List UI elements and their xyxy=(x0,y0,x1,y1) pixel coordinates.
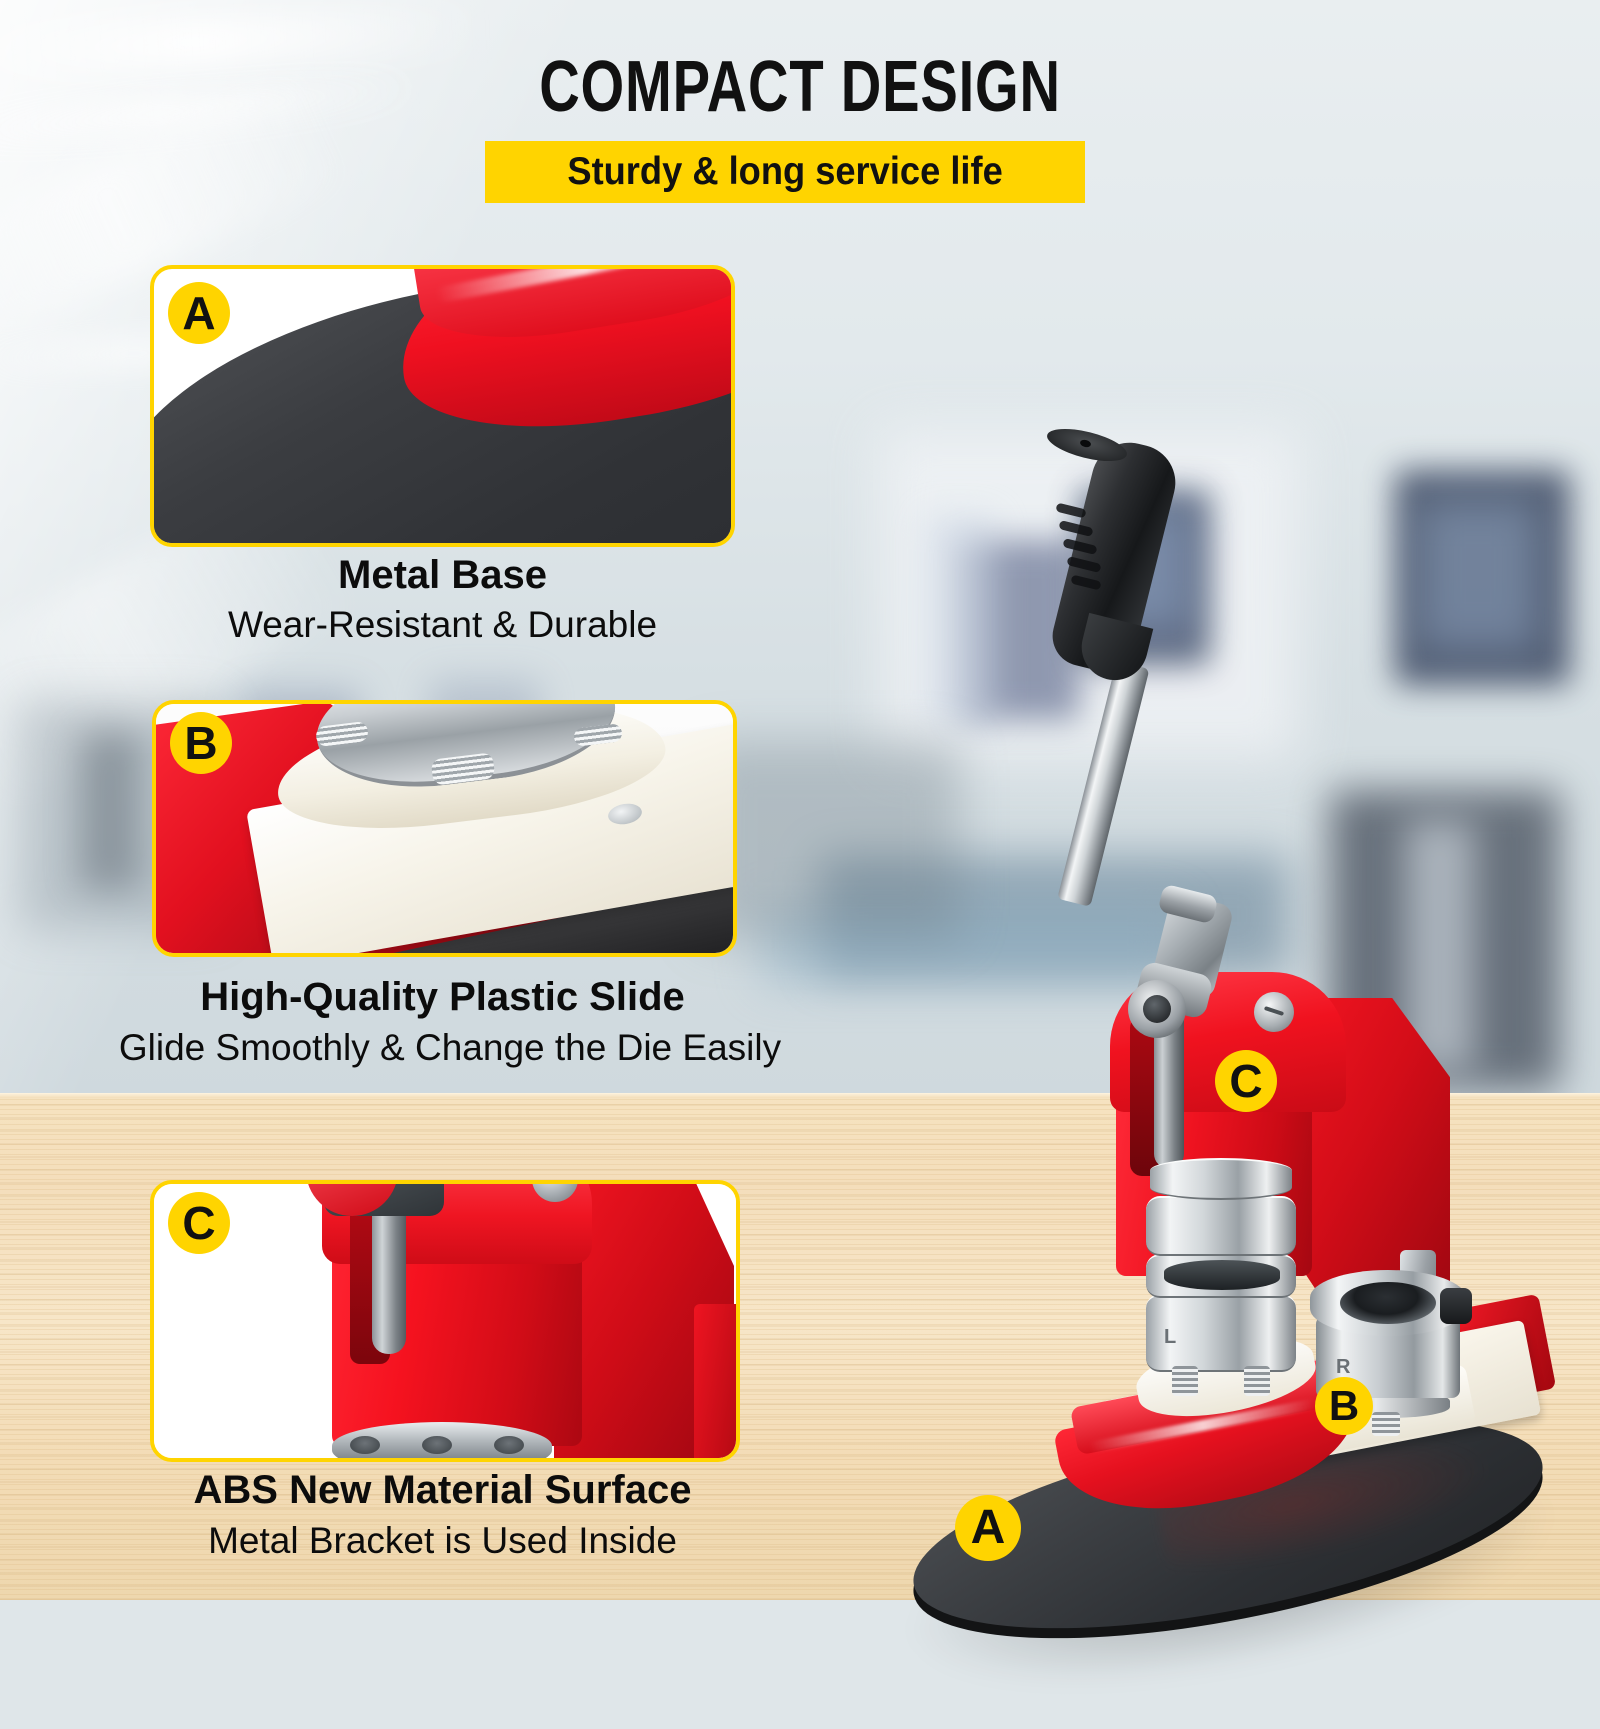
callout-b-title: High-Quality Plastic Slide xyxy=(130,975,755,1020)
callout-b-subtitle: Glide Smoothly & Change the Die Easily xyxy=(10,1027,890,1069)
callout-badge-a: A xyxy=(168,282,230,344)
die-bore xyxy=(1340,1282,1436,1324)
page-title: COMPACT DESIGN xyxy=(176,46,1424,128)
product-badge-c: C xyxy=(1215,1050,1277,1112)
callout-badge-b: B xyxy=(170,712,232,774)
background-tools-blur xyxy=(80,730,140,890)
panel-c-flange-hole xyxy=(422,1436,452,1454)
product-body-screw xyxy=(1254,992,1294,1032)
callout-panel-b xyxy=(152,700,737,957)
handle-grip-ridge xyxy=(1055,503,1086,519)
callout-c-subtitle: Metal Bracket is Used Inside xyxy=(130,1520,755,1562)
callout-a-title: Metal Base xyxy=(150,553,735,598)
product-chrome-shaft xyxy=(1057,661,1149,907)
product-badge-b: B xyxy=(1315,1377,1373,1435)
die-ring xyxy=(1146,1196,1296,1256)
callout-panel-a xyxy=(150,265,735,547)
callout-c-title: ABS New Material Surface xyxy=(130,1468,755,1513)
product-left-die: L xyxy=(1146,1158,1296,1388)
panel-c-flange-hole xyxy=(350,1436,380,1454)
die-label-right: R xyxy=(1336,1356,1350,1379)
callout-panel-c xyxy=(150,1180,740,1462)
product-badge-a: A xyxy=(955,1495,1021,1561)
subtitle-highlight-bar: Sturdy & long service life xyxy=(485,141,1085,203)
die-spring xyxy=(1372,1412,1400,1436)
die-label-left: L xyxy=(1164,1326,1176,1349)
die-bore xyxy=(1164,1260,1280,1290)
die-flange xyxy=(1150,1158,1292,1200)
callout-badge-c: C xyxy=(168,1192,230,1254)
product-stop-knob xyxy=(1440,1288,1472,1324)
product-pivot-bolt xyxy=(1143,995,1171,1023)
die-spring xyxy=(1244,1366,1270,1396)
panel-c-flange-hole xyxy=(494,1436,524,1454)
product-button-maker-press: L R A B C xyxy=(860,420,1600,1600)
callout-a-subtitle: Wear-Resistant & Durable xyxy=(130,604,755,646)
die-spring xyxy=(1172,1366,1198,1396)
panel-c-red-side xyxy=(694,1304,740,1462)
subtitle-text: Sturdy & long service life xyxy=(567,150,1002,194)
